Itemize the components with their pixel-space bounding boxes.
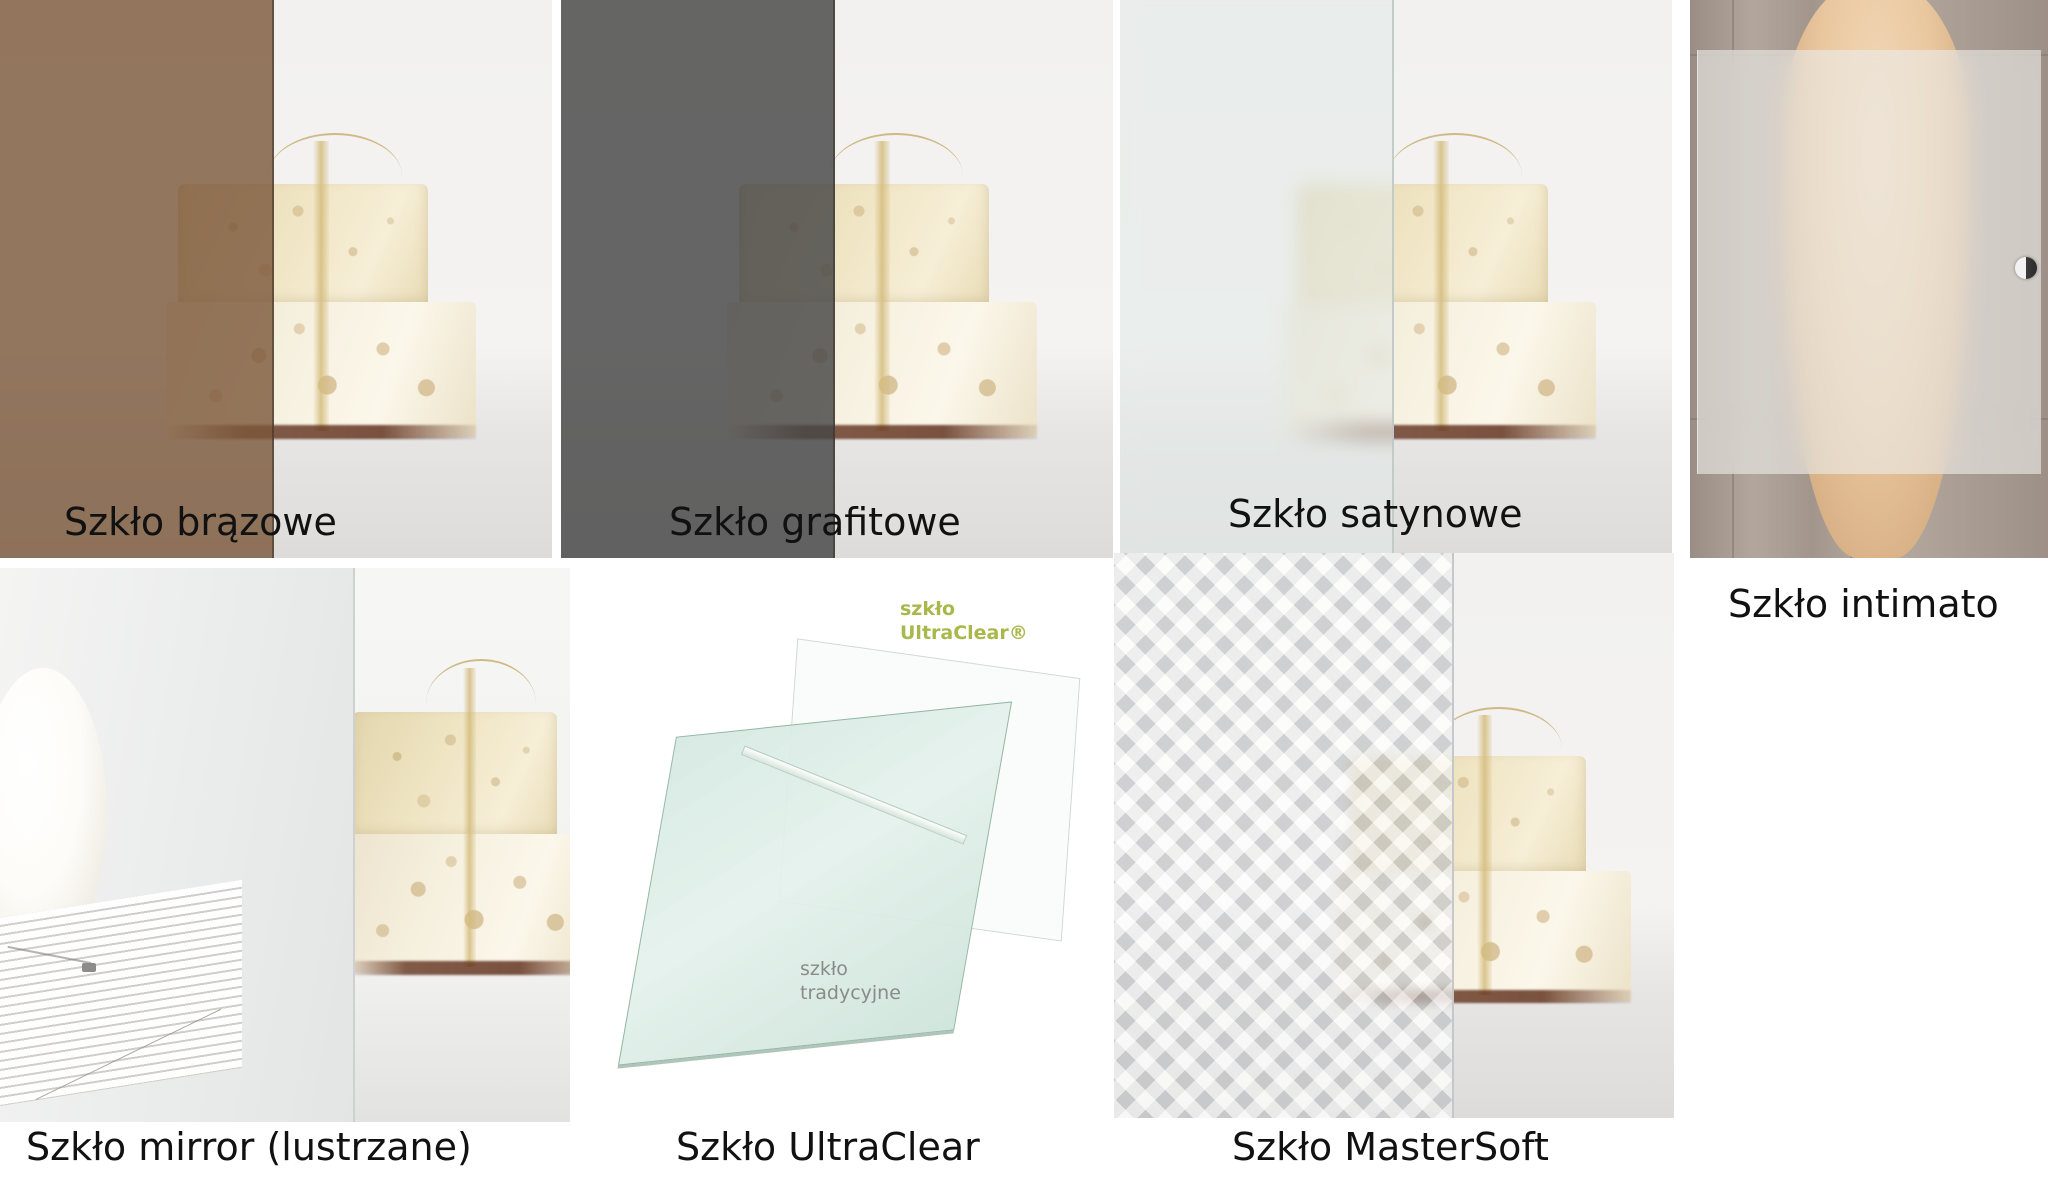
tile-szklo-intimato[interactable] xyxy=(1690,0,2048,558)
glass-pane-edge xyxy=(272,0,274,558)
raffia-string xyxy=(313,141,329,430)
caption-szklo-grafitowe: Szkło grafitowe xyxy=(669,503,961,541)
raffia-string xyxy=(1477,715,1492,996)
photo-szklo-ultraclear: szkło UltraClear® szkło tradycyjne xyxy=(570,568,1115,1122)
raffia-bow-icon xyxy=(268,133,402,176)
lamp-switch xyxy=(82,963,96,972)
glass-types-gallery: Szkło brązowe Szkło grafitowe xyxy=(0,0,2048,1204)
glass-pane-graphite xyxy=(561,0,835,558)
soap-shadow xyxy=(342,961,570,975)
mastersoft-diamond-texture xyxy=(1114,553,1454,1118)
glass-pane-mastersoft xyxy=(1114,553,1454,1118)
satin-tint xyxy=(1120,0,1394,558)
annotation-ultraclear: szkło UltraClear® xyxy=(900,598,1028,646)
slat-floor-reflection xyxy=(0,880,241,1109)
caption-szklo-satynowe: Szkło satynowe xyxy=(1228,495,1522,533)
glass-pane-brown xyxy=(0,0,274,558)
caption-szklo-mastersoft: Szkło MasterSoft xyxy=(1232,1128,1549,1166)
photo-szklo-grafitowe xyxy=(561,0,1113,558)
tile-szklo-brazowe[interactable] xyxy=(0,0,552,558)
raffia-bow-icon xyxy=(426,659,536,703)
raffia-string xyxy=(874,141,890,430)
glass-pane-edge xyxy=(353,568,355,1122)
glass-pane-intimato xyxy=(1697,50,2041,474)
caption-szklo-brazowe: Szkło brązowe xyxy=(64,503,337,541)
glass-pane-edge xyxy=(833,0,835,558)
glass-pane-satin xyxy=(1120,0,1394,558)
photo-szklo-mastersoft xyxy=(1114,553,1674,1118)
glass-pane-edge xyxy=(1392,0,1394,558)
shower-door-handle-icon[interactable] xyxy=(2015,257,2037,279)
tile-szklo-satynowe[interactable] xyxy=(1120,0,1672,558)
tile-szklo-mastersoft[interactable] xyxy=(1114,553,1674,1118)
glass-plate-traditional xyxy=(618,702,1012,1067)
glass-pane-mirror xyxy=(0,568,355,1122)
raffia-bow-icon xyxy=(829,133,963,176)
raffia-string xyxy=(1433,141,1449,430)
soap-stack xyxy=(342,712,570,989)
photo-szklo-intimato xyxy=(1690,0,2048,558)
glass-pane-edge xyxy=(1452,553,1454,1118)
raffia-string xyxy=(463,668,476,967)
tile-szklo-mirror[interactable] xyxy=(0,568,570,1122)
photo-szklo-mirror xyxy=(0,568,570,1122)
raffia-bow-icon xyxy=(1388,133,1522,176)
photo-szklo-brazowe xyxy=(0,0,552,558)
tile-szklo-grafitowe[interactable] xyxy=(561,0,1113,558)
photo-szklo-satynowe xyxy=(1120,0,1672,558)
caption-szklo-mirror: Szkło mirror (lustrzane) xyxy=(26,1128,472,1166)
tile-szklo-ultraclear[interactable]: szkło UltraClear® szkło tradycyjne xyxy=(570,568,1115,1122)
soap-bar-top xyxy=(352,712,557,839)
caption-szklo-ultraclear: Szkło UltraClear xyxy=(676,1128,980,1166)
caption-szklo-intimato: Szkło intimato xyxy=(1728,585,1999,623)
soap-bar-bottom xyxy=(342,834,570,973)
annotation-tradycyjne: szkło tradycyjne xyxy=(800,958,901,1006)
